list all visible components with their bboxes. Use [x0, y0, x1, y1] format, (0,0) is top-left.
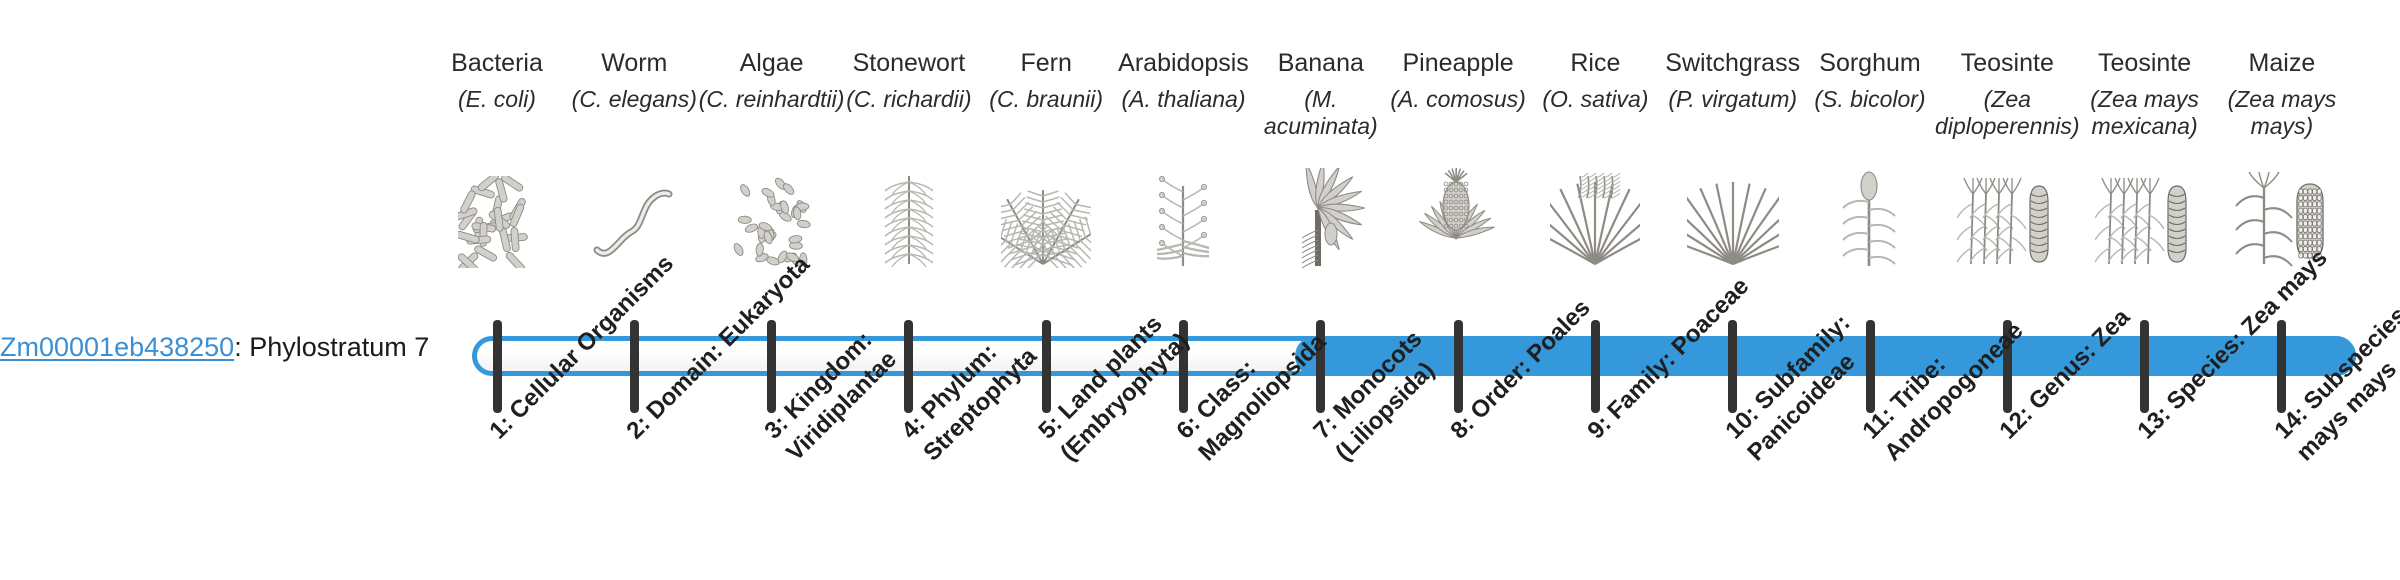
- stratum-tick-2[interactable]: [630, 320, 639, 413]
- stratum-tick-1[interactable]: [493, 320, 502, 413]
- stratum-tick-9[interactable]: [1591, 320, 1600, 413]
- stratum-tick-13[interactable]: [2140, 320, 2149, 413]
- stratum-tick-14[interactable]: [2277, 320, 2286, 413]
- stratum-tick-3[interactable]: [767, 320, 776, 413]
- stratum-tick-10[interactable]: [1728, 320, 1737, 413]
- phylostratigraphy-chart: Zm00001eb438250: Phylostratum 7 Bacteria…: [0, 0, 2400, 580]
